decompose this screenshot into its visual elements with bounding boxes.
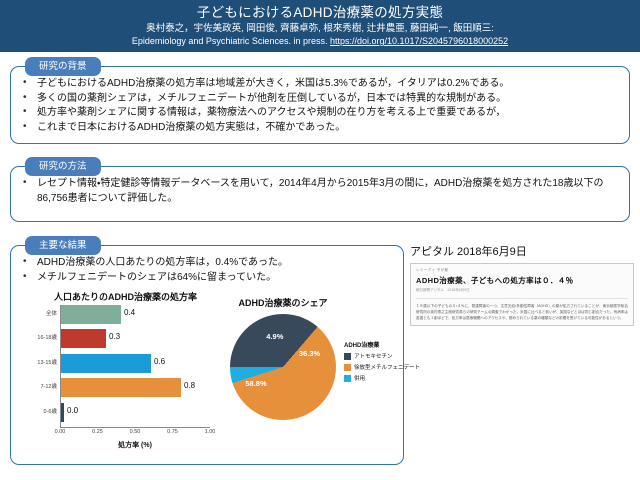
list-item: メチルフェニデートのシェアは64%に留まっていた。 [19,271,395,286]
bar-value-label: 0.0 [67,406,78,415]
bar-category-label: 13-15歳 [37,358,57,366]
bar [61,378,181,397]
section-background-body: 子どもにおけるADHD治療薬の処方率は地域差が大きく，米国は5.3%であるが，イ… [11,67,629,135]
charts-area: 人口あたりのADHD治療薬の処方率 全体0.416-18歳0.313-15歳0.… [10,290,404,462]
bar-value-label: 0.8 [184,381,195,390]
section-results-tab: 主要な結果 [25,236,101,255]
bar-row: 7-12歳0.8 [61,378,211,397]
news-headline: ADHD治療薬、子どもへの処方率は０．４％ [416,275,628,286]
results-bullet-list: ADHD治療薬の人口あたりの処方率は，0.4%であった。 メチルフェニデートのシ… [19,256,395,285]
bar-row: 16-18歳0.3 [61,329,211,348]
bar-chart-title: 人口あたりのADHD治療薬の処方率 [18,290,233,303]
bar-category-label: 0-6歳 [44,407,57,415]
legend-label: 徐放型メチルフェニデート [354,363,420,371]
news-kicker: レミーデイ 予が動 [416,268,628,273]
list-item: 子どもにおけるADHD治療薬の処方率は地域差が大きく，米国は5.3%であるが，イ… [19,77,621,92]
x-tick-label: 0.75 [167,429,178,435]
bar-category-label: 7-12歳 [40,382,57,390]
x-tick-label: 0.25 [92,429,103,435]
bar-chart-plot-area: 全体0.416-18歳0.313-15歳0.67-12歳0.80-6歳0.0 [60,305,210,427]
x-tick-label: 1.00 [205,429,216,435]
legend-item: 併用 [344,374,406,382]
pie-chart-disc [230,314,336,420]
author-list: 奥村泰之，宇佐美政英, 岡田俊, 齊藤卓弥, 根來秀樹, 辻井農亜, 藤田純一,… [0,22,640,35]
citation: Epidemiology and Psychiatric Sciences. i… [0,35,640,48]
background-bullet-list: 子どもにおけるADHD治療薬の処方率は地域差が大きく，米国は5.3%であるが，イ… [19,77,621,135]
x-tick-label: 0.50 [130,429,141,435]
news-byline: 朝日新聞デジタル 2018年6月9日 [416,288,628,293]
pie-slice-label-2: 4.9% [266,332,283,341]
citation-journal: Epidemiology and Psychiatric Sciences. i… [132,36,330,46]
list-item: 多くの国の薬剤シェアは，メチルフェニデートが他剤を圧倒しているが，日本では特異的… [19,92,621,107]
pie-chart-title: ADHD治療薬のシェア [222,296,344,309]
pie-chart-legend: ADHD治療薬 アトモキセチン徐放型メチルフェニデート併用 [344,340,406,385]
bar-chart-x-axis [60,427,210,428]
news-source-date: アピタル 2018年6月9日 [410,243,634,259]
bar-value-label: 0.4 [124,308,135,317]
news-clipping: レミーデイ 予が動 ADHD治療薬、子どもへの処方率は０．４％ 朝日新聞デジタル… [410,263,634,326]
slide: 子どもにおけるADHD治療薬の処方実態 奥村泰之，宇佐美政英, 岡田俊, 齊藤卓… [0,0,640,480]
legend-title: ADHD治療薬 [344,340,406,349]
pie-slice-label-0: 36.3% [299,349,320,358]
x-tick-label: 0.00 [55,429,66,435]
bar-row: 0-6歳0.0 [61,403,211,422]
news-body-text: １８歳以下の子どもの０・４％に、発達障害の一つ、注意欠如・多動性障害（ADHD）… [416,303,628,321]
bar-row: 全体0.4 [61,305,211,324]
page-title: 子どもにおけるADHD治療薬の処方実態 [0,0,640,22]
list-item: レセプト情報・特定健診等情報データベースを用いて，2014年4月から2015年3… [19,177,621,206]
bar [61,305,121,324]
bar [61,354,151,373]
methods-bullet-list: レセプト情報・特定健診等情報データベースを用いて，2014年4月から2015年3… [19,177,621,206]
legend-item: 徐放型メチルフェニデート [344,363,406,371]
list-item: 処方率や薬剤シェアに関する情報は，薬物療法へのアクセスや規制の在り方を考える上で… [19,106,621,121]
bar-chart-x-label: 処方率 (%) [60,440,210,450]
news-panel: アピタル 2018年6月9日 レミーデイ 予が動 ADHD治療薬、子どもへの処方… [410,243,634,363]
bar-value-label: 0.3 [109,332,120,341]
section-methods: 研究の方法 レセプト情報・特定健診等情報データベースを用いて，2014年4月から… [10,166,630,222]
legend-rows: アトモキセチン徐放型メチルフェニデート併用 [344,352,406,382]
legend-swatch-icon [344,375,351,382]
pie-slice-label-1: 58.8% [245,379,266,388]
news-body: １８歳以下の子どもの０・４％に、発達障害の一つ、注意欠如・多動性障害（ADHD）… [416,298,628,321]
legend-swatch-icon [344,364,351,371]
legend-label: アトモキセチン [354,352,393,360]
bar [61,403,64,422]
bar-chart: 人口あたりのADHD治療薬の処方率 全体0.416-18歳0.313-15歳0.… [18,290,233,462]
pie-chart: ADHD治療薬のシェア 36.3% 58.8% 4.9% ADHD治療薬 アトモ… [222,296,404,456]
bar [61,329,106,348]
section-methods-tab: 研究の方法 [25,157,101,176]
bar-row: 13-15歳0.6 [61,354,211,373]
list-item-continuation: これまで日本におけるADHD治療薬の処方実態は，不確かであった。 [19,121,621,136]
legend-label: 併用 [354,374,365,382]
list-item: ADHD治療薬の人口あたりの処方率は，0.4%であった。 [19,256,395,271]
bar-category-label: 16-18歳 [37,333,57,341]
bar-value-label: 0.6 [154,357,165,366]
legend-swatch-icon [344,353,351,360]
doi-link[interactable]: https://doi.org/10.1017/S204579601800025… [330,36,508,46]
section-background-tab: 研究の背景 [25,57,101,76]
section-methods-body: レセプト情報・特定健診等情報データベースを用いて，2014年4月から2015年3… [11,167,629,206]
section-background: 研究の背景 子どもにおけるADHD治療薬の処方率は地域差が大きく，米国は5.3%… [10,66,630,144]
legend-item: アトモキセチン [344,352,406,360]
bar-category-label: 全体 [46,309,57,317]
title-banner: 子どもにおけるADHD治療薬の処方実態 奥村泰之，宇佐美政英, 岡田俊, 齊藤卓… [0,0,640,52]
